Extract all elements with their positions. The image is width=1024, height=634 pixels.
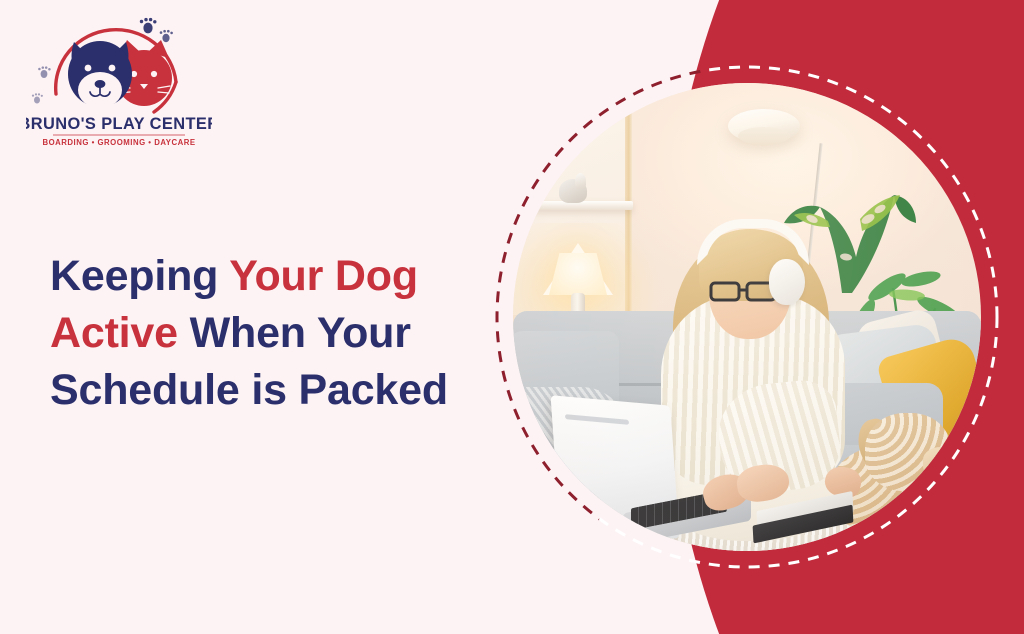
brunos-play-center-logo[interactable]: BRUNO'S PLAY CENTER BOARDING • GROOMING … <box>26 12 212 152</box>
headphone-earcup <box>769 259 805 305</box>
ceiling-light <box>728 109 800 143</box>
living-room-scene <box>513 83 981 551</box>
headline-text-accent: Your Dog <box>229 252 418 300</box>
dog-snout <box>923 447 967 479</box>
headline-text-accent: Active <box>50 309 178 357</box>
hero-photo <box>513 83 981 551</box>
headline-text-plain: When Your <box>178 309 411 357</box>
headline-line-1: Keeping Your Dog <box>50 252 418 300</box>
ceramic-figurine <box>559 179 587 203</box>
dog-head-icon <box>68 41 132 108</box>
logo-tagline: BOARDING • GROOMING • DAYCARE <box>42 138 195 147</box>
headline-line-2: Active When Your <box>50 309 411 357</box>
page-title: Keeping Your Dog Active When Your Schedu… <box>50 248 480 418</box>
headline-line-3: Schedule is Packed <box>50 366 448 414</box>
headline-text-plain: Keeping <box>50 252 229 300</box>
logo-brand-line: BRUNO'S PLAY CENTER <box>26 115 212 133</box>
blog-banner: BRUNO'S PLAY CENTER BOARDING • GROOMING … <box>0 0 1024 634</box>
